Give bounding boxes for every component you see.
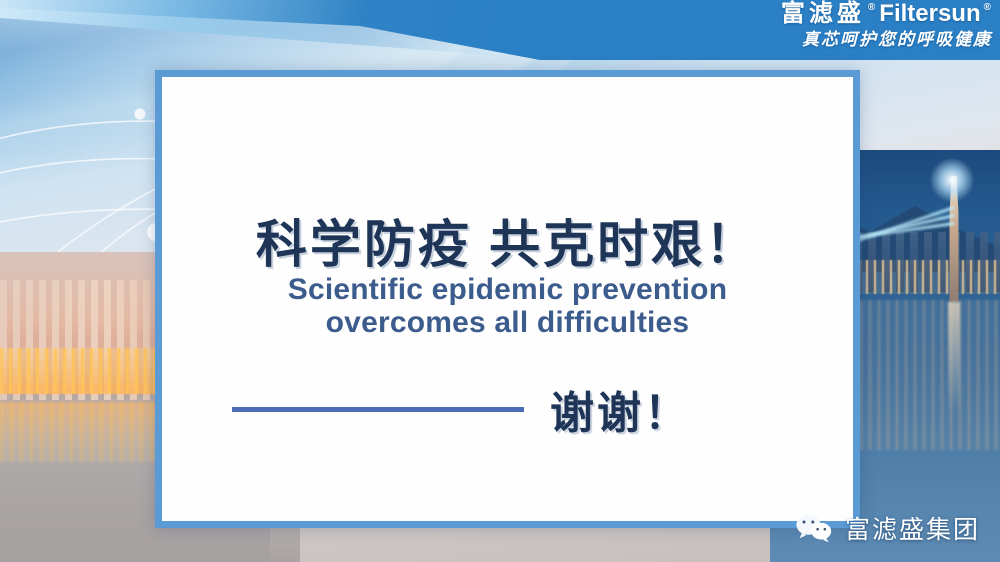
headline-cn: 科学防疫 共克时艰！	[162, 203, 853, 277]
registered-mark-en: ®	[984, 3, 992, 13]
content-card: 科学防疫 共克时艰！ Scientific epidemic preventio…	[155, 70, 860, 528]
registered-mark-cn: ®	[868, 3, 876, 13]
presentation-slide: 富滤盛® Filtersun® 真芯呵护您的呼吸健康 科学防疫 共克时艰！ Sc…	[0, 0, 1000, 562]
tower-light-glow	[930, 158, 974, 202]
content-card-inner: 科学防疫 共克时艰！ Scientific epidemic preventio…	[162, 77, 853, 521]
logo-name-cn: 富滤盛	[781, 2, 865, 26]
subtitle-en-line1: Scientific epidemic prevention	[288, 273, 727, 306]
logo-primary-row: 富滤盛® Filtersun®	[781, 2, 992, 26]
closing-row: 谢谢！	[162, 377, 853, 441]
tower-reflection	[948, 302, 960, 414]
logo-name-en: Filtersun	[879, 2, 980, 26]
subtitle-en-line2: overcomes all difficulties	[162, 306, 853, 339]
wechat-account-name: 富滤盛集团	[845, 510, 980, 546]
subtitle-en: Scientific epidemic prevention overcomes…	[162, 273, 853, 339]
logo-tagline: 真芯呵护您的呼吸健康	[781, 32, 992, 49]
wechat-icon	[793, 512, 835, 544]
divider-rule	[232, 407, 524, 412]
closing-text: 谢谢！	[550, 377, 691, 441]
wechat-watermark: 富滤盛集团	[793, 510, 980, 546]
corporate-logo: 富滤盛® Filtersun® 真芯呵护您的呼吸健康	[781, 2, 992, 49]
